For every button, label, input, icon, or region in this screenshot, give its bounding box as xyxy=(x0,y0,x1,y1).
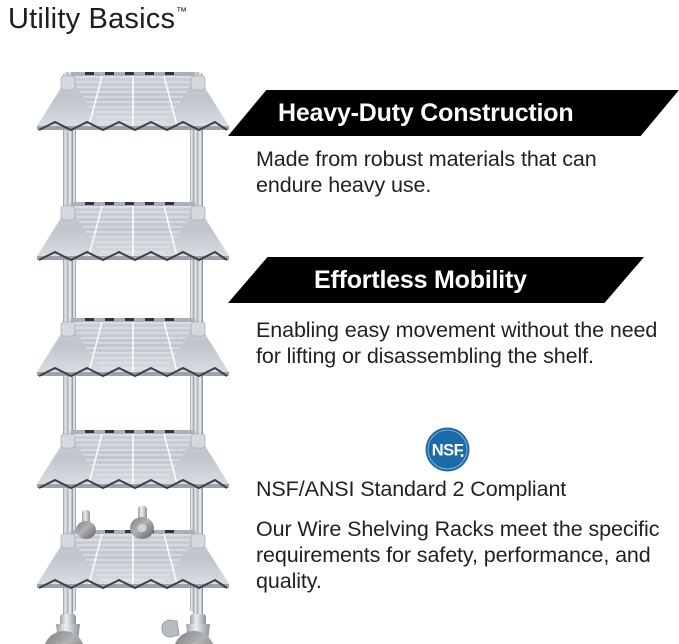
caster-front-left xyxy=(44,614,84,644)
feature-description-heavy-duty-construction: Made from robust materials that can endu… xyxy=(256,146,666,198)
svg-text:NSF: NSF xyxy=(432,442,464,460)
caster-front-right xyxy=(162,614,214,644)
product-photo xyxy=(20,58,246,644)
product-feature-infographic: Utility Basics ™ xyxy=(0,0,679,644)
feature-description-effortless-mobility: Enabling easy movement without the need … xyxy=(256,317,666,369)
feature-banner-label: Heavy-Duty Construction xyxy=(278,101,573,126)
brand-logo: Utility Basics ™ xyxy=(8,2,187,36)
nsf-certification-icon: NSF xyxy=(424,426,471,473)
feature-banner-heavy-duty-construction: Heavy-Duty Construction xyxy=(228,90,679,136)
nsf-compliance-caption: NSF/ANSI Standard 2 Compliant xyxy=(256,476,676,502)
caster-rear-right xyxy=(76,510,96,539)
caster-rear-left xyxy=(130,506,154,539)
nsf-badge-graphic: NSF xyxy=(424,426,471,473)
brand-name: Utility Basics xyxy=(8,2,175,36)
trademark-symbol: ™ xyxy=(176,5,187,19)
nsf-compliance-description: Our Wire Shelving Racks meet the specifi… xyxy=(256,516,666,594)
feature-banner-effortless-mobility: Effortless Mobility xyxy=(228,257,644,303)
wire-shelving-rack-illustration xyxy=(20,58,246,644)
feature-banner-label: Effortless Mobility xyxy=(314,268,527,293)
